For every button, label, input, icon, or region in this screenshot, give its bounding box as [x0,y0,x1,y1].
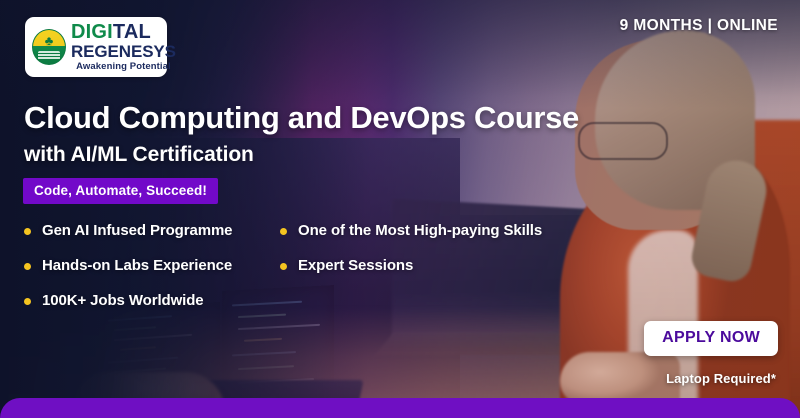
bullet-dot-icon [24,298,31,305]
list-item: One of the Most High-paying Skills [280,222,580,241]
list-item: Expert Sessions [280,257,580,276]
feature-label: One of the Most High-paying Skills [298,222,542,241]
brand-logo-line1: DIGITAL [71,22,176,42]
apply-now-button[interactable]: APPLY NOW [644,321,778,356]
page-subtitle: with AI/ML Certification [24,143,254,167]
list-item: Hands-on Labs Experience [24,257,286,276]
bullet-dot-icon [280,228,287,235]
feature-list-left: Gen AI Infused Programme Hands-on Labs E… [24,222,286,326]
brand-emblem-icon: ♣ [32,29,66,65]
brand-logo-line2: REGENESYS [71,43,176,60]
scroll-icon [38,51,60,60]
course-meta: 9 MONTHS | ONLINE [620,17,778,35]
list-item: 100K+ Jobs Worldwide [24,292,286,311]
brand-logo-line1-a: DIGI [71,21,113,43]
brand-logo[interactable]: ♣ DIGITAL REGENESYS Awakening Potential [25,17,167,77]
emblem-disc: ♣ [32,29,66,65]
tree-icon: ♣ [39,34,59,48]
bullet-dot-icon [280,263,287,270]
feature-list-right: One of the Most High-paying Skills Exper… [280,222,580,292]
course-promo-banner: ♣ DIGITAL REGENESYS Awakening Potential … [0,0,800,418]
feature-label: Hands-on Labs Experience [42,257,232,276]
feature-label: Expert Sessions [298,257,413,276]
laptop-required-note: Laptop Required* [666,371,776,386]
page-title: Cloud Computing and DevOps Course [24,100,579,136]
list-item: Gen AI Infused Programme [24,222,286,241]
feature-label: 100K+ Jobs Worldwide [42,292,204,311]
brand-logo-text: DIGITAL REGENESYS Awakening Potential [71,22,176,72]
feature-label: Gen AI Infused Programme [42,222,232,241]
bottom-accent-bar [0,398,800,418]
brand-logo-line1-b: TAL [113,21,151,43]
tagline-badge: Code, Automate, Succeed! [23,178,218,204]
bullet-dot-icon [24,263,31,270]
bullet-dot-icon [24,228,31,235]
brand-logo-slogan: Awakening Potential [71,62,176,72]
